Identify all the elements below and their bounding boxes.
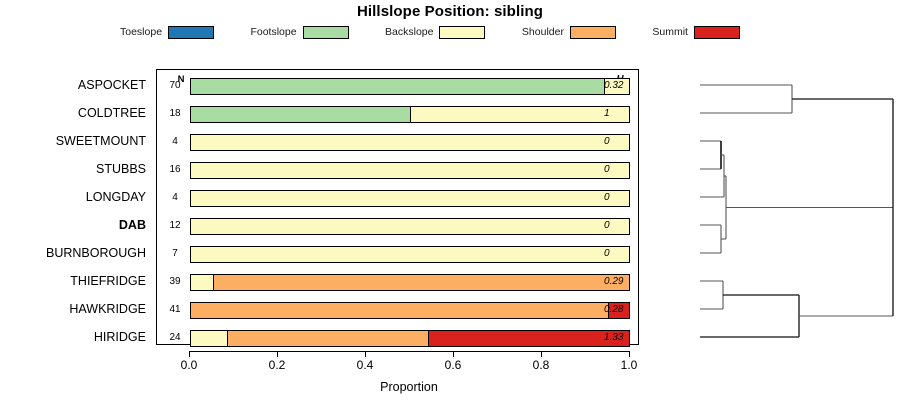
n-value-coldtree: 18 xyxy=(161,108,189,119)
bar-segment-backslope xyxy=(191,191,629,206)
bar-segment-summit xyxy=(428,331,629,346)
bar-segment-backslope xyxy=(191,219,629,234)
n-value-thiefridge: 39 xyxy=(161,276,189,287)
legend-item: Toeslope xyxy=(120,26,214,39)
n-value-dab: 12 xyxy=(161,220,189,231)
stacked-bar-panel: NH700.32181401604012070390.29410.28241.3… xyxy=(156,69,639,345)
legend-swatch xyxy=(303,26,349,39)
bar-segment-shoulder xyxy=(227,331,428,346)
x-tick-label: 0.6 xyxy=(433,358,473,372)
legend-label: Summit xyxy=(652,26,688,38)
stacked-bar-thiefridge xyxy=(190,274,630,291)
x-tick-label: 1.0 xyxy=(609,358,649,372)
legend-label: Shoulder xyxy=(522,26,564,38)
x-tick xyxy=(453,351,454,357)
x-tick xyxy=(629,351,630,357)
bar-segment-backslope xyxy=(191,247,629,262)
legend-item: Summit xyxy=(652,26,740,39)
bar-segment-backslope xyxy=(410,107,629,122)
legend-swatch xyxy=(168,26,214,39)
legend-item: Backslope xyxy=(385,26,485,39)
row-label-hiridge: HIRIDGE xyxy=(94,328,146,346)
bar-segment-backslope xyxy=(191,135,629,150)
row-label-burnborough: BURNBOROUGH xyxy=(46,244,146,262)
stacked-bar-longday xyxy=(190,190,630,207)
legend-label: Toeslope xyxy=(120,26,162,38)
bar-segment-shoulder xyxy=(213,275,629,290)
x-tick-label: 0.0 xyxy=(169,358,209,372)
chart-root: Hillslope Position: sibling ToeslopeFoot… xyxy=(0,0,900,420)
stacked-bar-hawkridge xyxy=(190,302,630,319)
n-value-hawkridge: 41 xyxy=(161,304,189,315)
stacked-bar-sweetmount xyxy=(190,134,630,151)
row-label-coldtree: COLDTREE xyxy=(78,104,146,122)
row-label-stubbs: STUBBS xyxy=(96,160,146,178)
bar-segment-footslope xyxy=(191,107,410,122)
n-value-sweetmount: 4 xyxy=(161,136,189,147)
legend-item: Shoulder xyxy=(522,26,616,39)
n-value-burnborough: 7 xyxy=(161,248,189,259)
h-value-stubbs: 0 xyxy=(604,164,644,175)
legend-label: Footslope xyxy=(250,26,296,38)
n-value-longday: 4 xyxy=(161,192,189,203)
row-label-dab: DAB xyxy=(119,216,146,234)
x-tick xyxy=(189,351,190,357)
h-value-thiefridge: 0.29 xyxy=(604,276,644,287)
bar-segment-backslope xyxy=(191,275,213,290)
legend-swatch xyxy=(570,26,616,39)
x-axis-line xyxy=(189,351,629,352)
h-value-aspocket: 0.32 xyxy=(604,80,644,91)
row-label-sweetmount: SWEETMOUNT xyxy=(56,132,146,150)
h-value-burnborough: 0 xyxy=(604,248,644,259)
legend-swatch xyxy=(694,26,740,39)
h-value-longday: 0 xyxy=(604,192,644,203)
legend-swatch xyxy=(439,26,485,39)
legend: ToeslopeFootslopeBackslopeShoulderSummit xyxy=(120,24,740,40)
row-label-column: ASPOCKETCOLDTREESWEETMOUNTSTUBBSLONGDAYD… xyxy=(0,69,150,345)
bar-segment-backslope xyxy=(191,163,629,178)
row-label-hawkridge: HAWKRIDGE xyxy=(69,300,146,318)
legend-label: Backslope xyxy=(385,26,433,38)
x-tick-label: 0.8 xyxy=(521,358,561,372)
n-value-aspocket: 70 xyxy=(161,80,189,91)
row-label-thiefridge: THIEFRIDGE xyxy=(70,272,146,290)
n-value-stubbs: 16 xyxy=(161,164,189,175)
row-label-longday: LONGDAY xyxy=(86,188,146,206)
legend-item: Footslope xyxy=(250,26,348,39)
h-value-coldtree: 1 xyxy=(604,108,644,119)
h-value-sweetmount: 0 xyxy=(604,136,644,147)
h-value-hawkridge: 0.28 xyxy=(604,304,644,315)
x-tick xyxy=(365,351,366,357)
x-tick-label: 0.4 xyxy=(345,358,385,372)
x-tick xyxy=(541,351,542,357)
h-value-hiridge: 1.33 xyxy=(604,332,644,343)
x-tick-label: 0.2 xyxy=(257,358,297,372)
x-axis-title: Proportion xyxy=(189,380,629,394)
x-tick xyxy=(277,351,278,357)
dendrogram-svg xyxy=(700,60,900,360)
stacked-bar-dab xyxy=(190,218,630,235)
stacked-bar-aspocket xyxy=(190,78,630,95)
stacked-bar-burnborough xyxy=(190,246,630,263)
bar-segment-shoulder xyxy=(191,303,608,318)
bar-segment-backslope xyxy=(191,331,227,346)
page-title: Hillslope Position: sibling xyxy=(0,3,900,20)
stacked-bar-stubbs xyxy=(190,162,630,179)
bar-segment-footslope xyxy=(191,79,604,94)
n-value-hiridge: 24 xyxy=(161,332,189,343)
stacked-bar-coldtree xyxy=(190,106,630,123)
h-value-dab: 0 xyxy=(604,220,644,231)
dendrogram xyxy=(700,60,900,360)
row-label-aspocket: ASPOCKET xyxy=(78,76,146,94)
stacked-bar-hiridge xyxy=(190,330,630,347)
